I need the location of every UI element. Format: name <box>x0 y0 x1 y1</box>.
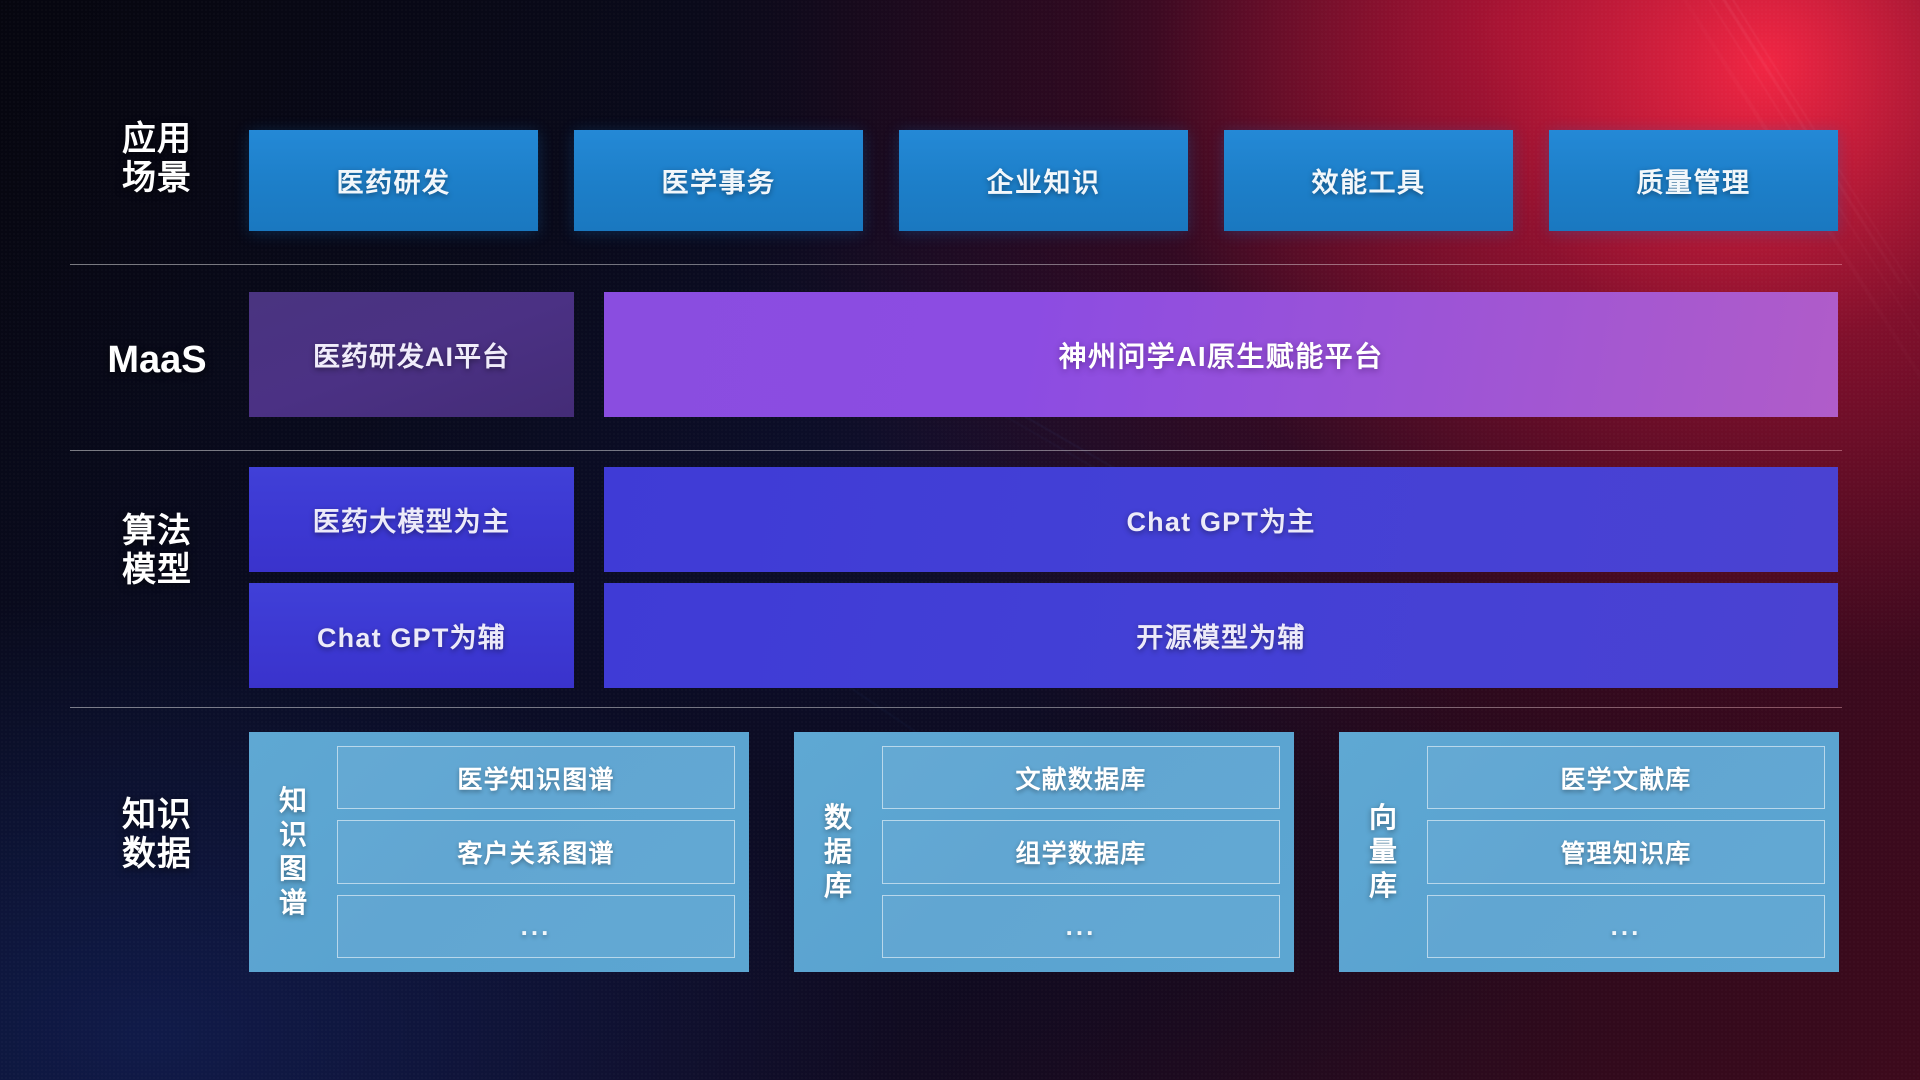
knowledge-panel-items: 医学知识图谱 客户关系图谱 ... <box>337 746 735 958</box>
maas-left-label: 医药研发AI平台 <box>313 335 510 374</box>
app-scenario-box-4[interactable]: 效能工具 <box>1224 130 1513 231</box>
algorithm-box-left-primary[interactable]: 医药大模型为主 <box>249 467 574 572</box>
algorithm-label: 医药大模型为主 <box>313 500 510 539</box>
vlabel-char: 向 <box>1369 801 1397 835</box>
knowledge-panel-items: 文献数据库 组学数据库 ... <box>882 746 1280 958</box>
algorithm-label: Chat GPT为主 <box>1126 500 1315 539</box>
knowledge-panel-database[interactable]: 数 据 库 文献数据库 组学数据库 ... <box>794 732 1294 972</box>
app-scenario-label: 企业知识 <box>987 161 1101 200</box>
knowledge-item[interactable]: 客户关系图谱 <box>337 820 735 883</box>
row-label-algorithm-models: 算法 模型 <box>72 512 242 590</box>
knowledge-panel-vector-database[interactable]: 向 量 库 医学文献库 管理知识库 ... <box>1339 732 1839 972</box>
knowledge-item[interactable]: 医学知识图谱 <box>337 746 735 809</box>
algorithm-label: Chat GPT为辅 <box>317 616 506 655</box>
knowledge-item[interactable]: 医学文献库 <box>1427 746 1825 809</box>
divider-after-maas <box>70 450 1842 451</box>
vlabel-char: 图 <box>279 852 307 886</box>
algorithm-box-right-secondary[interactable]: 开源模型为辅 <box>604 583 1838 688</box>
divider-after-application-scenarios <box>70 264 1842 265</box>
vlabel-char: 库 <box>1369 869 1397 903</box>
app-scenario-label: 质量管理 <box>1637 161 1751 200</box>
app-scenario-label: 效能工具 <box>1312 161 1426 200</box>
app-scenario-box-5[interactable]: 质量管理 <box>1549 130 1838 231</box>
vlabel-char: 库 <box>824 869 852 903</box>
vlabel-char: 据 <box>824 835 852 869</box>
divider-after-algorithm-models <box>70 707 1842 708</box>
vlabel-char: 量 <box>1369 835 1397 869</box>
app-scenario-label: 医学事务 <box>662 161 776 200</box>
knowledge-item[interactable]: 管理知识库 <box>1427 820 1825 883</box>
knowledge-item-more[interactable]: ... <box>882 895 1280 958</box>
knowledge-panel-vertical-label: 数 据 库 <box>794 746 882 958</box>
knowledge-panel-items: 医学文献库 管理知识库 ... <box>1427 746 1825 958</box>
app-scenario-box-1[interactable]: 医药研发 <box>249 130 538 231</box>
knowledge-item-more[interactable]: ... <box>1427 895 1825 958</box>
row-label-maas: MaaS <box>72 339 242 382</box>
vlabel-char: 知 <box>279 784 307 818</box>
vlabel-char: 数 <box>824 801 852 835</box>
maas-platform-box-right[interactable]: 神州问学AI原生赋能平台 <box>604 292 1838 417</box>
maas-platform-box-left[interactable]: 医药研发AI平台 <box>249 292 574 417</box>
maas-right-label: 神州问学AI原生赋能平台 <box>1059 335 1384 375</box>
vlabel-char: 谱 <box>279 886 307 920</box>
app-scenario-label: 医药研发 <box>337 161 451 200</box>
knowledge-item[interactable]: 文献数据库 <box>882 746 1280 809</box>
knowledge-item[interactable]: 组学数据库 <box>882 820 1280 883</box>
algorithm-label: 开源模型为辅 <box>1136 616 1305 655</box>
architecture-diagram: 应用 场景 医药研发 医学事务 企业知识 效能工具 质量管理 MaaS 医药研发… <box>0 0 1920 1080</box>
algorithm-box-right-primary[interactable]: Chat GPT为主 <box>604 467 1838 572</box>
row-label-knowledge-data: 知识 数据 <box>72 796 242 874</box>
knowledge-panel-vertical-label: 知 识 图 谱 <box>249 746 337 958</box>
knowledge-item-more[interactable]: ... <box>337 895 735 958</box>
vlabel-char: 识 <box>279 818 307 852</box>
knowledge-panel-vertical-label: 向 量 库 <box>1339 746 1427 958</box>
app-scenario-box-3[interactable]: 企业知识 <box>899 130 1188 231</box>
app-scenario-box-2[interactable]: 医学事务 <box>574 130 863 231</box>
knowledge-panel-knowledge-graph[interactable]: 知 识 图 谱 医学知识图谱 客户关系图谱 ... <box>249 732 749 972</box>
row-label-application-scenarios: 应用 场景 <box>72 120 242 198</box>
algorithm-box-left-secondary[interactable]: Chat GPT为辅 <box>249 583 574 688</box>
